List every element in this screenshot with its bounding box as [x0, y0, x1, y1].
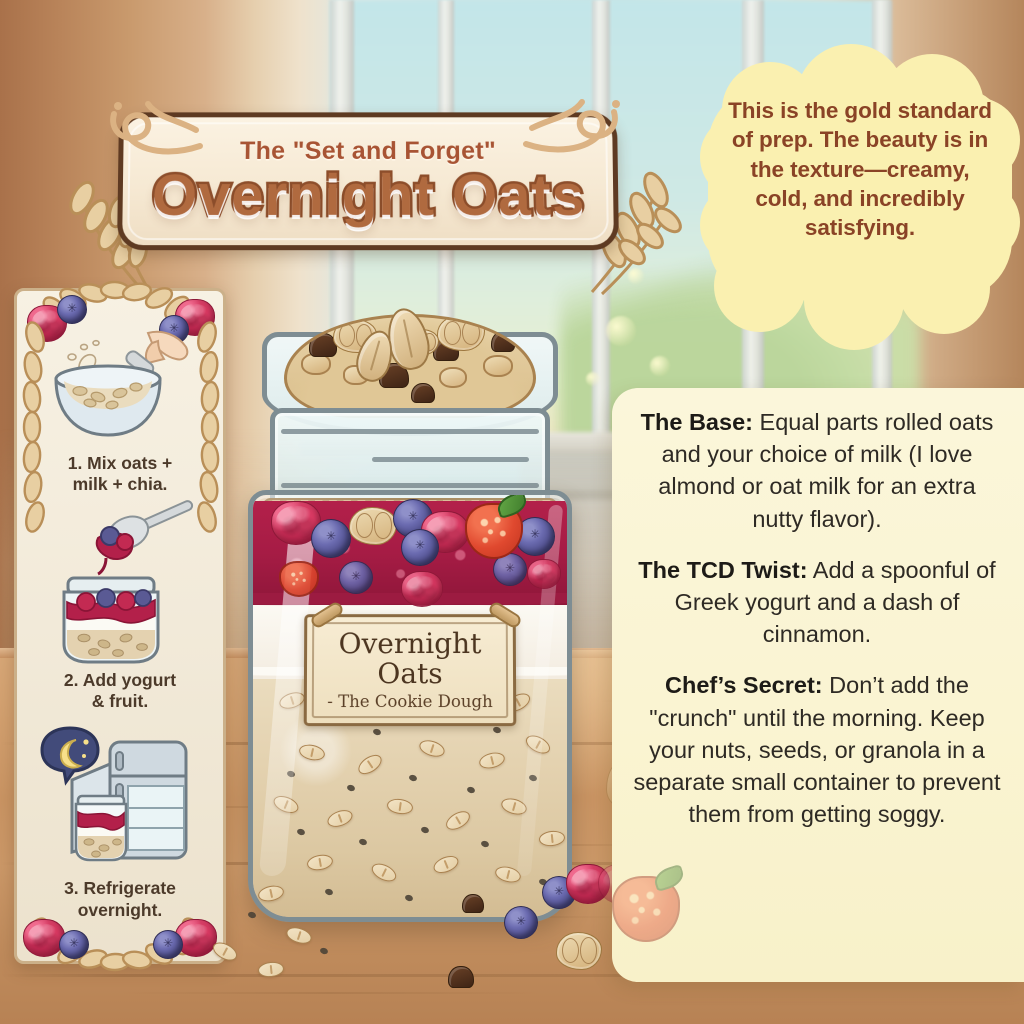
step-label: 2. Add yogurt& fruit.: [64, 670, 176, 713]
blueberry-decor: [153, 930, 183, 959]
blueberry-decor: [59, 930, 89, 959]
oat-flake: [325, 807, 355, 830]
oat-flake: [431, 853, 461, 877]
blueberry: [401, 529, 439, 566]
step-item: 2. Add yogurt& fruit.: [27, 506, 213, 713]
blueberry-prop: [504, 906, 538, 939]
steps-card: 1. Mix oats +milk + chia.: [14, 288, 226, 964]
jar-label-line1: Overnight: [339, 629, 482, 658]
cloud-lobe: [898, 242, 990, 334]
step-item: 3. Refrigerateovernight.: [27, 724, 213, 921]
cloud-lobe: [714, 240, 806, 332]
oat-flake: [277, 689, 306, 711]
blueberry: [339, 561, 373, 594]
jar-thread: [372, 457, 529, 462]
step-illustration: [36, 506, 204, 664]
note-heading: Chef’s Secret:: [665, 672, 823, 698]
bokeh-light: [650, 356, 670, 376]
infographic-canvas: The "Set and Forget" Overnight Oats This…: [0, 0, 1024, 1024]
fridge-moon-jar-icon: [32, 724, 208, 872]
oat-flake: [494, 864, 523, 885]
raspberry: [401, 571, 443, 607]
chia-seed: [286, 770, 295, 778]
oat-flake: [386, 797, 414, 815]
jar-label: Overnight Oats - The Cookie Dough: [304, 614, 517, 726]
title-banner: The "Set and Forget" Overnight Oats: [108, 96, 628, 260]
chia-seed: [466, 786, 475, 794]
bokeh-light: [606, 316, 636, 346]
quote-bubble: This is the gold standard of prep. The b…: [700, 44, 1020, 344]
banner-main-title: Overnight Oats: [150, 166, 585, 225]
chia-seed: [480, 840, 489, 848]
walnut-piece: [349, 507, 397, 545]
chia-seed: [404, 894, 413, 902]
oat-flake: [369, 860, 399, 885]
chocolate-chip-prop: [448, 966, 474, 988]
oat-flake: [478, 750, 507, 771]
chia-seed: [528, 774, 537, 782]
note-paragraph: The Base: Equal parts rolled oats and yo…: [630, 406, 1004, 535]
steps-list: 1. Mix oats +milk + chia.: [17, 291, 223, 961]
step-label: 1. Mix oats +milk + chia.: [68, 453, 173, 496]
oat-flake: [306, 853, 334, 872]
chia-seed: [346, 784, 355, 792]
walnut-prop: [556, 932, 602, 970]
step-illustration: [36, 325, 204, 447]
chocolate-chip-prop: [462, 894, 484, 913]
oat-flake: [523, 732, 553, 757]
jar-spoon-berries-icon: [36, 506, 204, 664]
chia-seed: [420, 826, 429, 834]
oat-cluster: [483, 355, 513, 377]
jar-label-line3: - The Cookie Dough: [327, 692, 493, 711]
chia-seed: [296, 828, 305, 836]
oat-flake: [417, 737, 446, 759]
chia-seed: [492, 726, 501, 734]
chia-seed: [324, 888, 333, 896]
jar-thread: [281, 483, 539, 488]
chia-seed: [408, 774, 417, 782]
bokeh-light: [628, 268, 644, 284]
wood-grain: [120, 992, 540, 994]
chocolate-chip: [491, 331, 515, 352]
oat-flake: [271, 793, 301, 817]
raspberry: [527, 559, 561, 589]
mason-jar: Overnight Oats - The Cookie Dough: [232, 322, 588, 932]
banner-subtitle: The "Set and Forget": [240, 137, 497, 166]
oat-flake: [443, 808, 473, 834]
jar-thread: [281, 429, 539, 434]
chia-seed: [358, 838, 367, 846]
oat-flake: [355, 751, 385, 778]
step-label: 3. Refrigerateovernight.: [64, 878, 176, 921]
chia-seed: [372, 728, 381, 736]
quote-text: This is the gold standard of prep. The b…: [724, 96, 996, 242]
bowl-whisk-hand-icon: [36, 325, 204, 447]
step-item: 1. Mix oats +milk + chia.: [27, 325, 213, 496]
step-illustration: [32, 724, 208, 872]
note-paragraph: The TCD Twist: Add a spoonful of Greek y…: [630, 554, 1004, 651]
jar-label-line2: Oats: [377, 659, 442, 688]
bokeh-light: [586, 372, 600, 386]
note-paragraph: Chef’s Secret: Don’t add the "crunch" un…: [630, 669, 1004, 830]
raspberry-decor: [23, 919, 65, 957]
note-heading: The Base:: [641, 409, 753, 435]
oat-flake: [298, 742, 327, 762]
cloud-lobe: [804, 250, 904, 350]
banner-text-group: The "Set and Forget" Overnight Oats: [118, 112, 618, 250]
chocolate-chip: [411, 383, 435, 403]
oat-flake: [538, 830, 565, 848]
walnut-piece: [437, 315, 485, 351]
jar-label-text: Overnight Oats - The Cookie Dough: [307, 617, 514, 723]
oat-cluster: [439, 367, 467, 388]
oat-flake: [499, 796, 528, 818]
blueberry: [311, 519, 351, 558]
note-heading: The TCD Twist:: [638, 557, 807, 583]
